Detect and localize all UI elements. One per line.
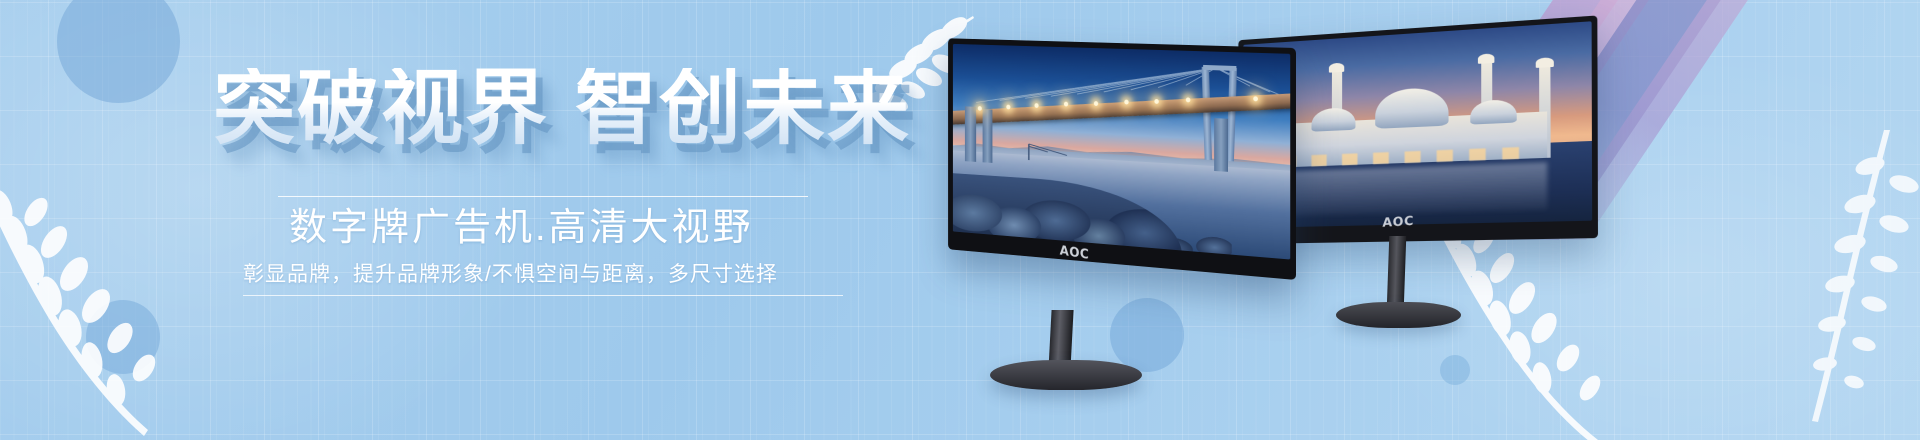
monitor-rear-stand-base bbox=[1336, 302, 1461, 328]
bridge-pier bbox=[965, 106, 976, 161]
bridge-scene-image bbox=[953, 44, 1290, 260]
headline-segment-1: 突破视界 bbox=[213, 63, 549, 154]
bridge-lamp bbox=[1006, 104, 1010, 109]
harbour-crane bbox=[1022, 138, 1074, 164]
monitor-front-panel: AOC bbox=[948, 38, 1296, 280]
banner-headline: 突破视界智创未来 bbox=[213, 68, 911, 150]
minaret-cap bbox=[1536, 57, 1553, 68]
monitor-front-brand-logo: AOC bbox=[1060, 243, 1089, 262]
monitor-rear-brand-logo: AOC bbox=[1382, 213, 1414, 230]
monitor-rear-stand-neck bbox=[1387, 236, 1407, 310]
promo-banner: 突破视界智创未来 数字牌广告机.高清大视野 彰显品牌，提升品牌形象/不惧空间与距… bbox=[0, 0, 1920, 440]
bridge-lamp bbox=[1094, 101, 1098, 106]
bridge-pier bbox=[1214, 118, 1228, 171]
banner-text-column: 突破视界智创未来 数字牌广告机.高清大视野 彰显品牌，提升品牌形象/不惧空间与距… bbox=[0, 0, 900, 440]
monitor-front-stand-base bbox=[990, 360, 1142, 390]
monitor-front-screen bbox=[953, 44, 1290, 260]
circle-decoration-small-right bbox=[1440, 355, 1470, 385]
bridge-pier bbox=[982, 109, 992, 163]
bridge-lamp bbox=[1124, 100, 1128, 105]
product-monitor-front[interactable]: AOC bbox=[898, 48, 1328, 388]
minaret-cap bbox=[1478, 53, 1495, 64]
bridge-lamp bbox=[1155, 99, 1159, 104]
subtitle-divider bbox=[243, 295, 843, 296]
leaf-branch-icon-far-right bbox=[1790, 130, 1920, 430]
banner-subtitle: 数字牌广告机.高清大视野 bbox=[289, 196, 754, 251]
bridge-lamp bbox=[978, 106, 982, 111]
headline-segment-2: 智创未来 bbox=[575, 63, 911, 154]
minaret-cap bbox=[1329, 62, 1344, 72]
banner-tagline: 彰显品牌，提升品牌形象/不惧空间与距离，多尺寸选择 bbox=[243, 258, 778, 288]
